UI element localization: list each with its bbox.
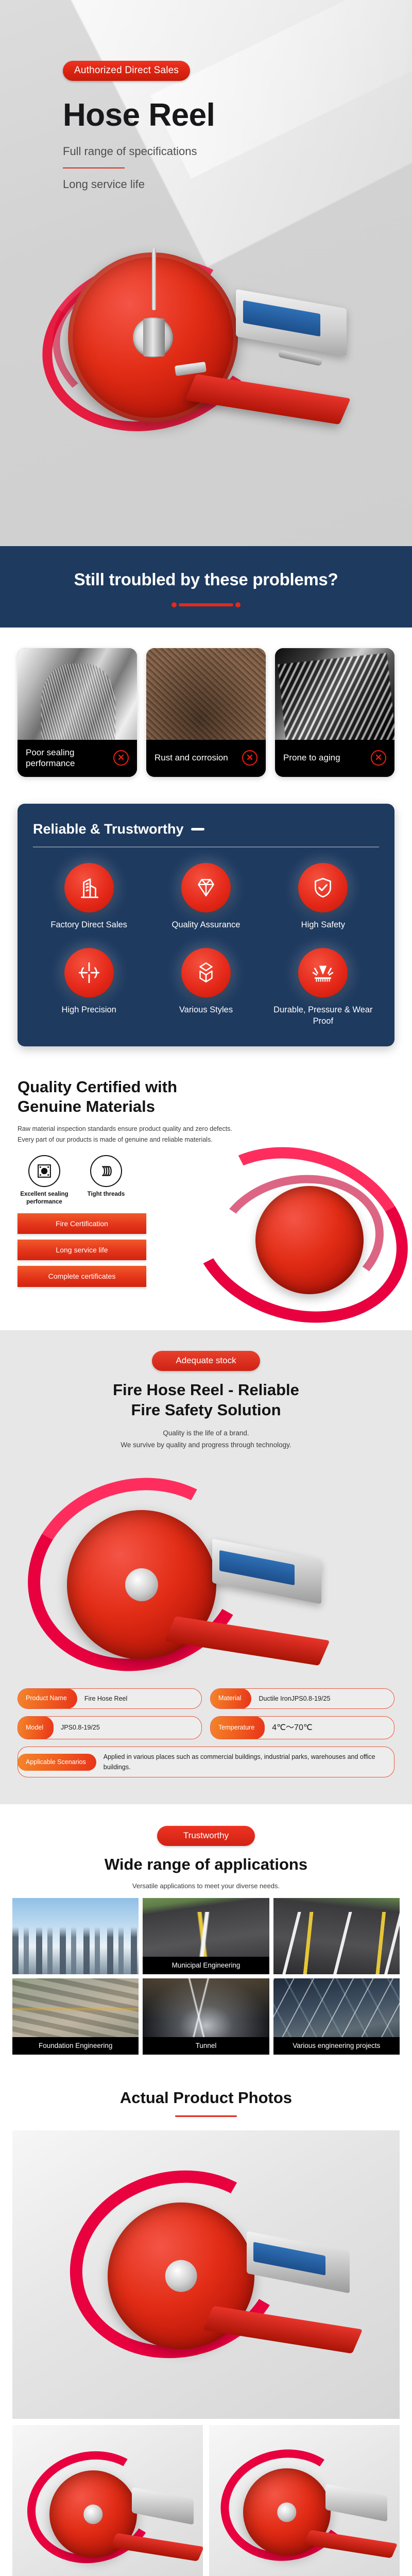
target-crosshair-icon [64,948,114,997]
problem-label: Prone to aging [283,752,340,763]
reel-hub [143,318,165,357]
quality-product-image [146,1155,394,1310]
quality-icon-features: Excellent sealing performance Tight thre… [18,1155,146,1206]
feature-label: Various Styles [150,1005,262,1015]
spec-subtitle: Quality is the life of a brand. We survi… [0,1428,412,1451]
quality-desc-line2: Every part of our products is made of ge… [18,1136,213,1143]
quality-left-column: Excellent sealing performance Tight thre… [18,1155,146,1310]
divider-bar [179,603,233,606]
problem-card: Rust and corrosion ✕ [146,648,266,777]
problem-caption: Prone to aging ✕ [275,740,394,777]
quality-heading: Quality Certified with Genuine Materials [18,1077,239,1116]
x-circle-icon: ✕ [242,750,257,766]
spec-value: Applied in various places such as commer… [96,1747,394,1777]
feature-label: High Safety [267,920,379,930]
reliable-section: Reliable & Trustworthy Factory Direct Sa… [0,800,412,1070]
spec-key: Applicable Scenarios [18,1754,96,1771]
quality-heading-line2: Genuine Materials [18,1097,155,1115]
quality-feature-label: Tight threads [79,1191,133,1198]
spec-section: Adequate stock Fire Hose Reel - Reliable… [0,1330,412,1804]
reliable-header: Reliable & Trustworthy [33,821,379,846]
spec-product-image [0,1454,412,1702]
actual-photos-heading: Actual Product Photos [0,2089,412,2107]
base-plate [185,374,351,425]
feature-item-durable: Durable, Pressure & Wear Proof [267,948,379,1027]
spec-row-applicable-scenarios: Applicable Scenarios Applied in various … [18,1747,394,1777]
reliable-heading: Reliable & Trustworthy [33,821,184,837]
problem-caption: Rust and corrosion ✕ [146,740,266,777]
applications-section: Trustworthy Wide range of applications V… [0,1804,412,2073]
application-card: Tunnel [143,1978,269,2055]
quality-chip-complete-certificates: Complete certificates [18,1266,146,1286]
asphalt-road-image [273,1898,400,1974]
quality-section: Quality Certified with Genuine Materials… [0,1070,412,1330]
actual-photos-section: Actual Product Photos [0,2073,412,2576]
actual-photos-divider [175,2115,237,2117]
spec-key: Material [210,1688,251,1709]
spec-heading-line2: Fire Safety Solution [131,1401,281,1419]
shield-check-icon [298,863,348,912]
quality-desc-line1: Raw material inspection standards ensure… [18,1125,232,1132]
spec-row: Material Ductile IronJPS0.8-19/25 [210,1688,394,1709]
thread-coil-icon [90,1155,122,1187]
problems-banner: Still troubled by these problems? [0,546,412,628]
spec-key: Temperature [210,1716,265,1740]
hero-product-image [21,222,391,510]
reliable-divider [33,846,379,848]
application-caption: Municipal Engineering [143,1957,269,1974]
quality-feature-label: Excellent sealing performance [18,1191,71,1206]
application-card: Municipal Engineering [143,1898,269,1974]
applications-grid: Municipal Engineering Foundation Enginee… [0,1898,412,2055]
x-circle-icon: ✕ [113,750,129,766]
base-plate [164,1616,330,1665]
quality-chip-long-service-life: Long service life [18,1240,146,1260]
divider-dot-right [235,602,241,607]
factory-building-icon [64,863,114,912]
application-caption: Various engineering projects [273,2037,400,2055]
authorized-badge: Authorized Direct Sales [63,61,190,81]
hero-section: Authorized Direct Sales Hose Reel Full r… [0,0,412,546]
spec-row: Product Name Fire Hose Reel [18,1688,202,1709]
problem-label: Rust and corrosion [154,752,228,763]
hero-subtitle-2: Long service life [63,178,145,191]
hero-subtitle-1: Full range of specifications [63,145,197,158]
product-photo-front-large [12,2130,400,2419]
feature-item-factory-direct-sales: Factory Direct Sales [33,863,145,930]
application-card: Foundation Engineering [12,1978,139,2055]
feature-item-high-safety: High Safety [267,863,379,930]
spec-sub-line1: Quality is the life of a brand. [163,1429,249,1437]
problems-heading: Still troubled by these problems? [0,570,412,589]
base-plate [304,2530,398,2558]
application-card [12,1898,139,1974]
page-title: Hose Reel [63,97,215,133]
problem-caption: Poor sealing performance ✕ [18,740,137,777]
spec-value: 4℃～70℃ [265,1717,320,1739]
problem-label: Poor sealing performance [26,747,113,769]
feature-item-high-precision: High Precision [33,948,145,1027]
spec-heading-line1: Fire Hose Reel - Reliable [113,1381,299,1399]
spec-key: Product Name [18,1688,77,1709]
spec-heading: Fire Hose Reel - Reliable Fire Safety So… [0,1380,412,1420]
application-caption: Tunnel [143,2037,269,2055]
hero-divider [63,167,125,168]
problem-cards: Poor sealing performance ✕ Rust and corr… [0,628,412,800]
quality-chip-fire-certification: Fire Certification [18,1213,146,1234]
spec-row: Temperature 4℃～70℃ [210,1716,394,1740]
hose-nozzle [278,350,322,366]
spec-value: Fire Hose Reel [77,1689,134,1708]
feature-label: Durable, Pressure & Wear Proof [267,1005,379,1027]
application-card: Various engineering projects [273,1978,400,2055]
trustworthy-badge: Trustworthy [157,1826,255,1846]
spec-row: Model JPS0.8-19/25 [18,1716,202,1740]
product-photo-angle-right [209,2425,400,2576]
feature-label: High Precision [33,1005,145,1015]
adequate-stock-badge: Adequate stock [152,1351,260,1371]
city-skyline-image [12,1898,139,1974]
applications-subtitle: Versatile applications to meet your dive… [0,1882,412,1890]
base-plate [203,2306,363,2354]
banner-divider [167,602,245,607]
feature-item-various-styles: Various Styles [150,948,262,1027]
product-photo-row [12,2425,400,2576]
reel-spoke [152,248,156,310]
product-photo-angle-left [12,2425,203,2576]
spec-table: Product Name Fire Hose Reel Material Duc… [0,1688,412,1778]
feature-label: Factory Direct Sales [33,920,145,930]
reel-drum [255,1186,364,1294]
dash-icon [191,828,204,831]
impact-burst-icon [298,948,348,997]
quality-description: Raw material inspection standards ensure… [18,1124,234,1145]
reliable-grid: Factory Direct Sales Quality Assurance [33,863,379,1027]
feature-item-quality-assurance: Quality Assurance [150,863,262,930]
diamond-icon [181,863,231,912]
applications-heading: Wide range of applications [0,1855,412,1874]
base-plate [110,2533,203,2562]
problem-card: Poor sealing performance ✕ [18,648,137,777]
cube-box-icon [181,948,231,997]
x-circle-icon: ✕ [371,750,386,766]
reliable-panel: Reliable & Trustworthy Factory Direct Sa… [18,804,394,1046]
feature-label: Quality Assurance [150,920,262,930]
spec-sub-line2: We survive by quality and progress throu… [121,1441,291,1449]
quality-feature-threads: Tight threads [79,1155,133,1206]
spec-key: Model [18,1716,54,1740]
spec-value: JPS0.8-19/25 [54,1717,107,1739]
flange-seal-icon [28,1155,60,1187]
spec-value: Ductile IronJPS0.8-19/25 [251,1689,337,1708]
quality-feature-sealing: Excellent sealing performance [18,1155,71,1206]
divider-dot-left [171,602,177,607]
problem-card: Prone to aging ✕ [275,648,394,777]
quality-heading-line1: Quality Certified with [18,1078,177,1096]
application-card [273,1898,400,1974]
application-caption: Foundation Engineering [12,2037,139,2055]
